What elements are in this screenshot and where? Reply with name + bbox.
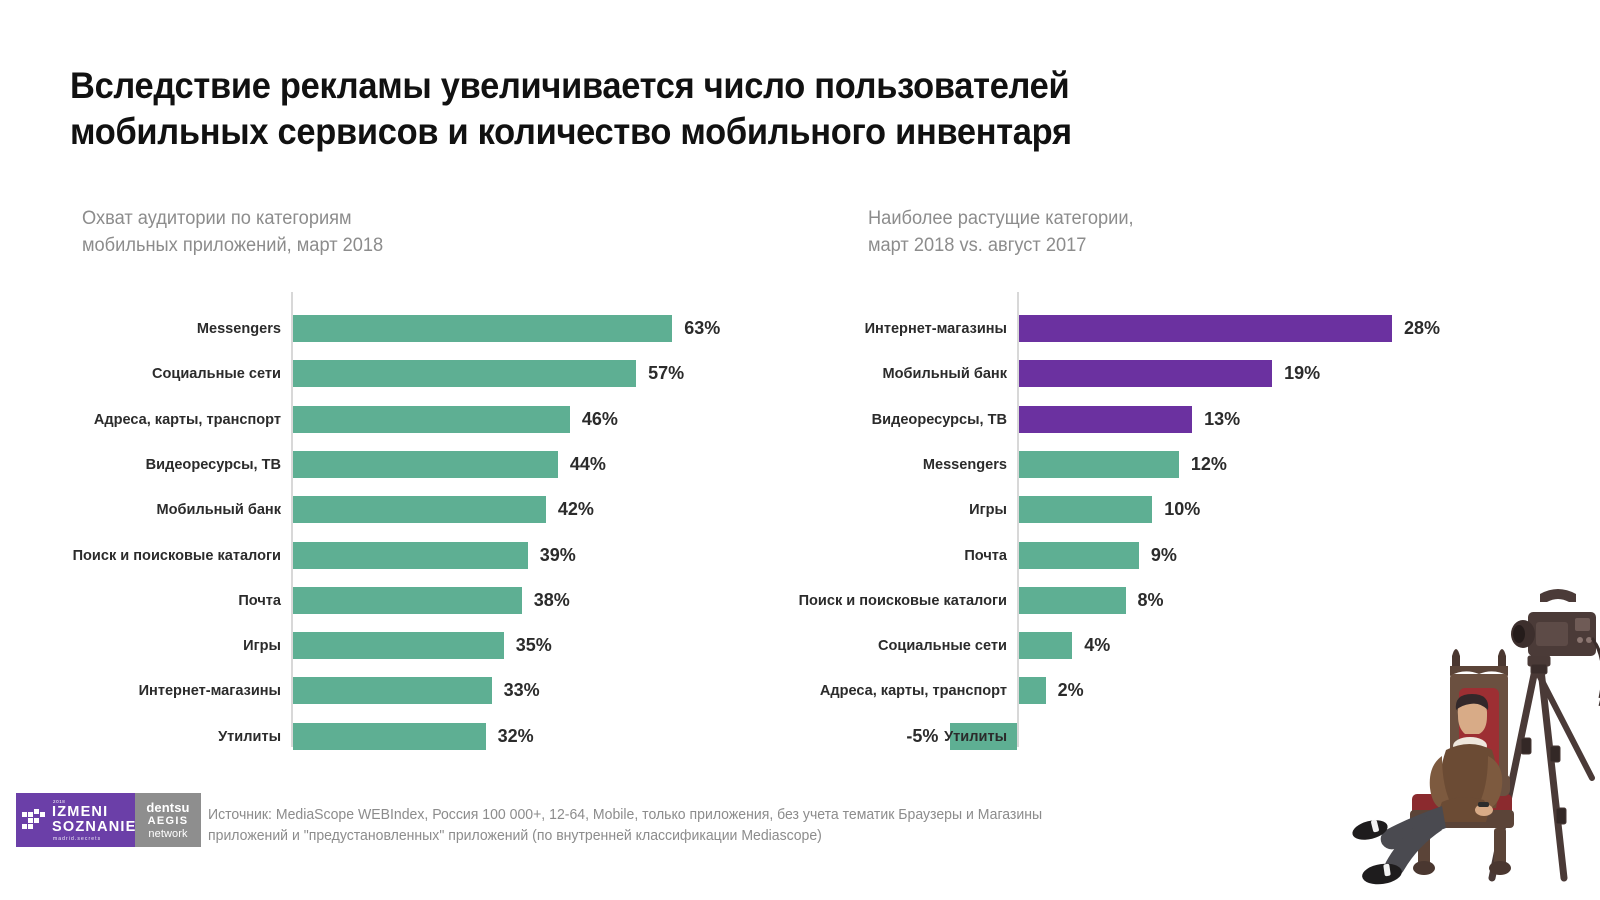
chart-bar xyxy=(1019,315,1392,342)
dentsu-logo-line-1: dentsu xyxy=(146,801,189,814)
logo-strip: 2018 IZMENI SOZNANIE madrid.secrets dent… xyxy=(16,793,201,847)
chart-value-label: 9% xyxy=(1151,533,1177,578)
chart-bar-row: Игры10% xyxy=(0,487,1600,532)
chart-category-label: Видеоресурсы, ТВ xyxy=(619,397,1007,442)
chart-bar xyxy=(1019,360,1272,387)
izmeni-logo-word-1: IZMENI xyxy=(52,805,137,820)
chart-bar-row: Интернет-магазины28% xyxy=(0,306,1600,351)
chart-bar xyxy=(1019,451,1179,478)
dentsu-aegis-network-logo: dentsu AEGIS network xyxy=(135,793,201,847)
chart-bar xyxy=(1019,587,1126,614)
page-title-line-1: Вследствие рекламы увеличивается число п… xyxy=(70,63,1307,109)
chart-value-label: 28% xyxy=(1404,306,1440,351)
chart-category-label: Утилиты xyxy=(619,714,1007,759)
dentsu-logo-line-3: network xyxy=(148,829,187,840)
dentsu-logo-line-2: AEGIS xyxy=(148,816,189,827)
chart-category-label: Поиск и поисковые каталоги xyxy=(619,578,1007,623)
man-on-throne-with-tv-camera-illustration xyxy=(1292,578,1600,900)
chart-bar xyxy=(1019,542,1139,569)
chart-category-label: Messengers xyxy=(619,442,1007,487)
chart-bar-row: Мобильный банк19% xyxy=(0,351,1600,396)
source-note: Источник: MediaScope WEBIndex, Россия 10… xyxy=(208,805,1275,847)
chart-value-label: 12% xyxy=(1191,442,1227,487)
chart-value-label: 8% xyxy=(1138,578,1164,623)
chart-bar xyxy=(1019,496,1152,523)
left-chart-subtitle-line-1: Охват аудитории по категориям xyxy=(82,205,581,232)
source-note-line-1: Источник: MediaScope WEBIndex, Россия 10… xyxy=(208,805,1275,826)
chart-value-label: 10% xyxy=(1164,487,1200,532)
izmeni-soznanie-wordmark: 2018 IZMENI SOZNANIE madrid.secrets xyxy=(52,800,137,843)
right-chart-subtitle-line-2: март 2018 vs. август 2017 xyxy=(868,232,1367,259)
chart-category-label: Социальные сети xyxy=(619,623,1007,668)
chart-bar xyxy=(1019,406,1192,433)
chart-category-label: Игры xyxy=(619,487,1007,532)
chart-bar-row: Видеоресурсы, ТВ13% xyxy=(0,397,1600,442)
izmeni-logo-tagline: madrid.secrets xyxy=(53,837,137,842)
chart-value-label: 2% xyxy=(1058,668,1084,713)
chart-value-label: 13% xyxy=(1204,397,1240,442)
chart-bar-row: Почта9% xyxy=(0,533,1600,578)
tv-camera-icon xyxy=(1511,589,1600,706)
chart-value-label: 19% xyxy=(1284,351,1320,396)
chart-bar xyxy=(1019,677,1046,704)
chart-bar xyxy=(1019,632,1072,659)
chart-value-label: 4% xyxy=(1084,623,1110,668)
pixel-arrow-icon xyxy=(22,809,48,831)
izmeni-soznanie-logo: 2018 IZMENI SOZNANIE madrid.secrets xyxy=(16,793,135,847)
page-title: Вследствие рекламы увеличивается число п… xyxy=(70,63,1307,155)
left-chart-subtitle-line-2: мобильных приложений, март 2018 xyxy=(82,232,581,259)
chart-category-label: Почта xyxy=(619,533,1007,578)
source-note-line-2: приложений и "предустановленных" приложе… xyxy=(208,826,1275,847)
right-chart-subtitle-line-1: Наиболее растущие категории, xyxy=(868,205,1367,232)
chart-category-label: Адреса, карты, транспорт xyxy=(619,668,1007,713)
left-chart-subtitle: Охват аудитории по категориям мобильных … xyxy=(82,205,581,259)
page-title-line-2: мобильных сервисов и количество мобильно… xyxy=(70,109,1307,155)
chart-bar-row: Messengers12% xyxy=(0,442,1600,487)
chart-category-label: Интернет-магазины xyxy=(619,306,1007,351)
izmeni-logo-word-2: SOZNANIE xyxy=(52,820,137,835)
right-chart-subtitle: Наиболее растущие категории, март 2018 v… xyxy=(868,205,1367,259)
chart-category-label: Мобильный банк xyxy=(619,351,1007,396)
